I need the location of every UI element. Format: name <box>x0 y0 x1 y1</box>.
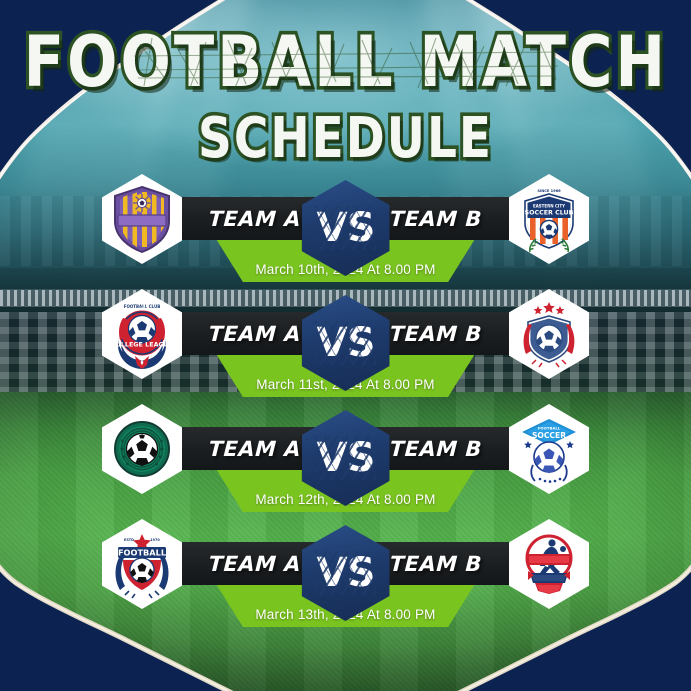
page-subtitle: SCHEDULE <box>198 110 493 166</box>
crest-soccer-club-navy-orange-icon: SINCE 1966 EASTERN CITY SOCCER CLUB <box>516 183 582 255</box>
svg-text:FOOTBALL: FOOTBALL <box>538 426 561 431</box>
team-right-label: TEAM B <box>370 197 502 240</box>
team-left-logo[interactable] <box>102 404 182 494</box>
svg-text:FOOTBALL: FOOTBALL <box>118 548 166 558</box>
football-match-schedule-poster: FOOTBALL MATCH SCHEDULE March 10th, 2024… <box>0 0 691 691</box>
svg-text:EASTERN CITY: EASTERN CITY <box>533 204 565 209</box>
team-left-logo[interactable]: FOOTBALL CLUB COLLEGE LEAGUE <box>102 289 182 379</box>
team-left-label: TEAM A <box>189 197 321 240</box>
match-list: March 10th, 2024 At 8.00 PM TEAM A TEAM … <box>0 176 691 636</box>
crest-soccer-blue-diamond-icon: FOOTBALL SOCCER <box>516 413 582 485</box>
team-right-logo[interactable] <box>509 519 589 609</box>
team-left-label: TEAM A <box>189 427 321 470</box>
crest-green-round-ball-icon <box>109 413 175 485</box>
vs-label: VS <box>317 208 375 248</box>
match-row[interactable]: March 12th, 2024 At 8.00 PM TEAM A TEAM … <box>0 406 691 521</box>
team-right-label: TEAM B <box>370 427 502 470</box>
svg-text:SOCCER CLUB: SOCCER CLUB <box>525 209 574 216</box>
team-left-logo[interactable] <box>102 174 182 264</box>
vs-label: VS <box>317 438 375 478</box>
crest-navy-ball-laurel-stars-icon <box>516 298 582 370</box>
team-left-logo[interactable]: ESTD 1970 FOOTBALL <box>102 519 182 609</box>
match-row[interactable]: March 11st, 2024 At 8.00 PM TEAM A TEAM … <box>0 291 691 406</box>
svg-text:SOCCER: SOCCER <box>532 431 566 440</box>
svg-text:1970: 1970 <box>150 538 160 542</box>
page-title: FOOTBALL MATCH <box>23 26 667 97</box>
svg-text:ESTD: ESTD <box>124 538 134 542</box>
match-row[interactable]: March 13th, 2024 At 8.00 PM TEAM A TEAM … <box>0 521 691 636</box>
team-left-label: TEAM A <box>189 312 321 355</box>
team-right-label: TEAM B <box>370 542 502 585</box>
team-right-logo[interactable]: FOOTBALL SOCCER <box>509 404 589 494</box>
crest-football-navy-laurel-star-icon: ESTD 1970 FOOTBALL <box>109 528 175 600</box>
team-left-label: TEAM A <box>189 542 321 585</box>
poster-title-block: FOOTBALL MATCH SCHEDULE <box>0 26 691 157</box>
svg-text:SINCE 1966: SINCE 1966 <box>537 189 561 193</box>
team-right-logo[interactable] <box>509 289 589 379</box>
vs-label: VS <box>317 553 375 593</box>
svg-text:COLLEGE LEAGUE: COLLEGE LEAGUE <box>111 341 174 349</box>
team-right-label: TEAM B <box>370 312 502 355</box>
crest-purple-gold-shield-icon <box>109 183 175 255</box>
match-row[interactable]: March 10th, 2024 At 8.00 PM TEAM A TEAM … <box>0 176 691 291</box>
crest-college-league-red-round-icon: FOOTBALL CLUB COLLEGE LEAGUE <box>109 298 175 370</box>
team-right-logo[interactable]: SINCE 1966 EASTERN CITY SOCCER CLUB <box>509 174 589 264</box>
crest-red-player-silhouette-icon <box>516 528 582 600</box>
vs-label: VS <box>317 323 375 363</box>
